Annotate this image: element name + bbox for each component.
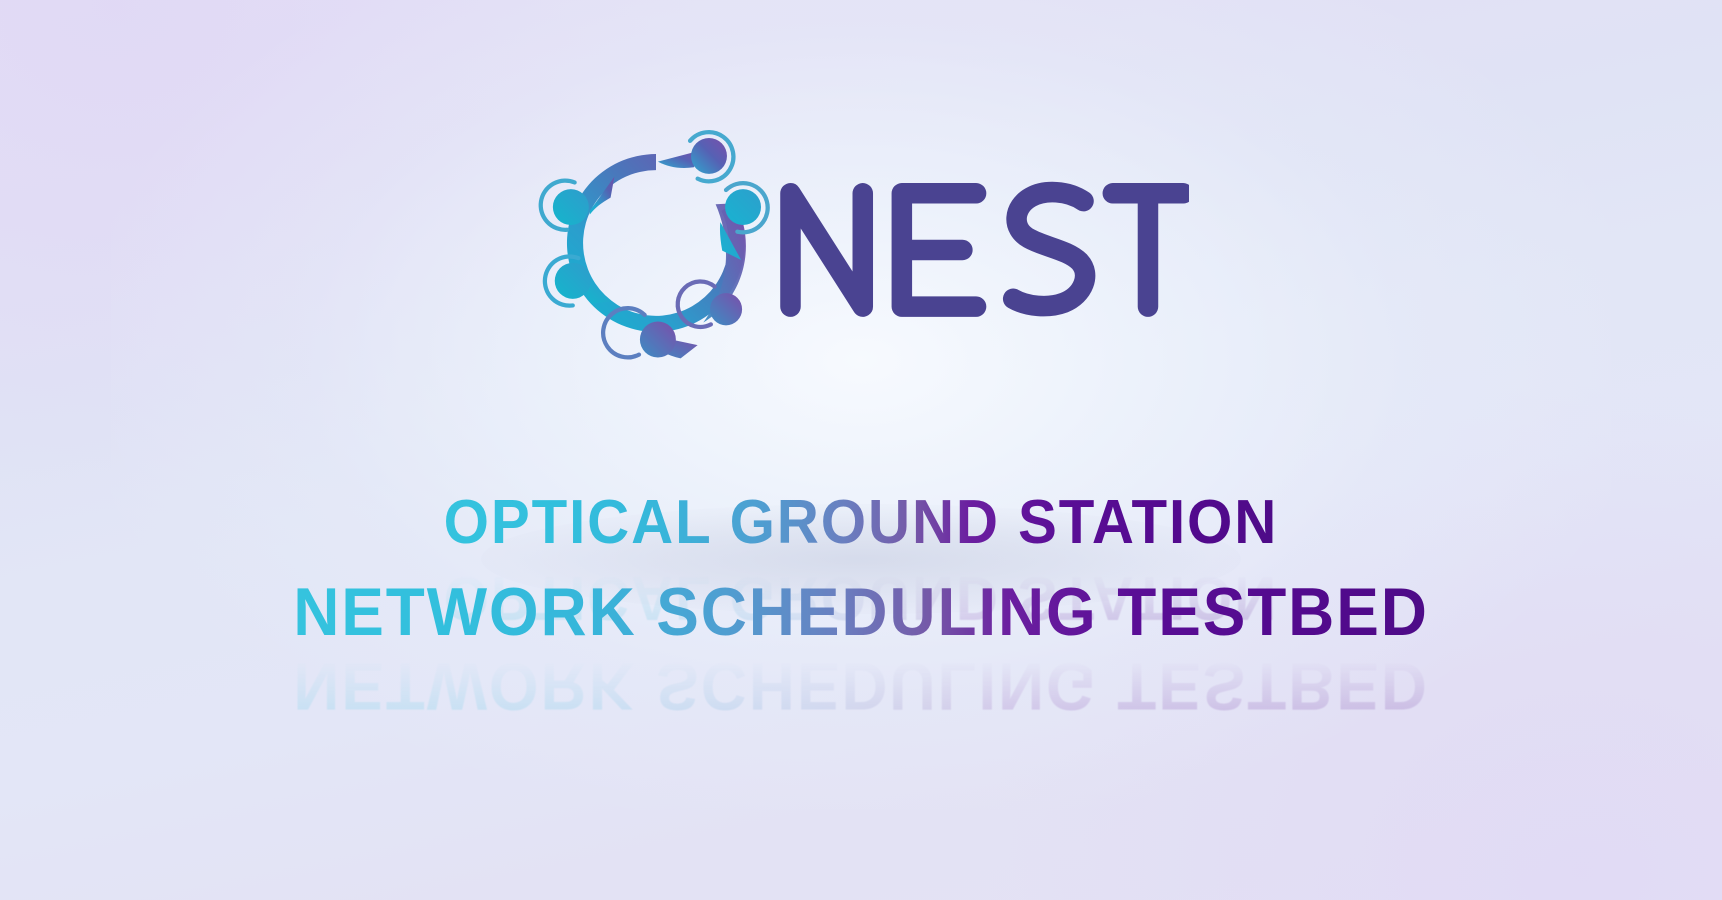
tagline-line-2-reflection: NETWORK SCHEDULING TESTBED — [0, 652, 1722, 722]
nest-wordmark — [769, 153, 1189, 343]
tagline-block: OPTICAL GROUND STATION OPTICAL GROUND ST… — [0, 492, 1722, 664]
logo-block — [0, 120, 1722, 366]
nest-ring-logo-icon — [533, 120, 779, 366]
title-card: OPTICAL GROUND STATION OPTICAL GROUND ST… — [0, 0, 1722, 900]
tagline-line-1-text: OPTICAL GROUND STATION — [444, 492, 1279, 554]
tagline-line-2: NETWORK SCHEDULING TESTBED NETWORK SCHED… — [0, 578, 1722, 664]
logo-lockup — [533, 120, 1189, 366]
tagline-line-1: OPTICAL GROUND STATION OPTICAL GROUND ST… — [0, 492, 1722, 578]
tagline-line-2-text: NETWORK SCHEDULING TESTBED — [293, 578, 1429, 646]
tagline-line-2-reflection-text: NETWORK SCHEDULING TESTBED — [293, 652, 1429, 720]
